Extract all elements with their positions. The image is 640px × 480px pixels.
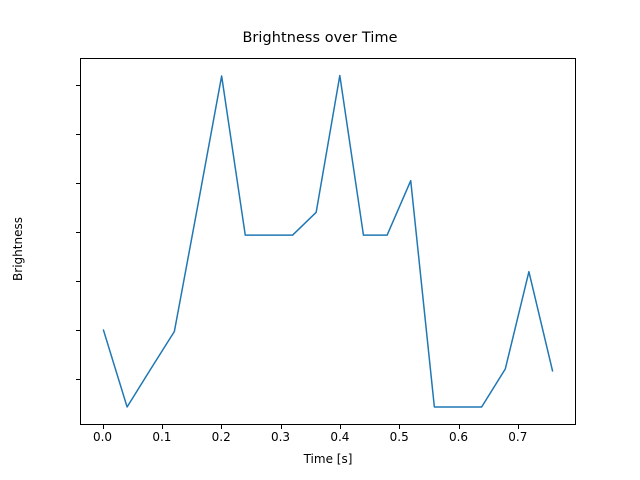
x-tick-label: 0.6 — [449, 430, 468, 444]
x-tick-label: 0.0 — [93, 430, 112, 444]
x-tick-mark — [221, 425, 222, 429]
x-tick-label: 0.7 — [508, 430, 527, 444]
x-axis-ticks: 0.00.10.20.30.40.50.60.7 — [0, 0, 640, 480]
x-tick-mark — [103, 425, 104, 429]
x-tick-mark — [399, 425, 400, 429]
x-tick-mark — [281, 425, 282, 429]
x-tick-label: 0.3 — [271, 430, 290, 444]
x-tick-mark — [518, 425, 519, 429]
x-tick-mark — [340, 425, 341, 429]
x-tick-mark — [459, 425, 460, 429]
x-tick-label: 0.1 — [152, 430, 171, 444]
x-tick-label: 0.4 — [330, 430, 349, 444]
x-tick-label: 0.5 — [390, 430, 409, 444]
x-axis-label: Time [s] — [80, 452, 576, 466]
matplotlib-figure: Brightness over Time 3000400050006000700… — [0, 0, 640, 480]
x-tick-label: 0.2 — [212, 430, 231, 444]
x-tick-mark — [162, 425, 163, 429]
y-axis-label: Brightness — [11, 149, 25, 349]
